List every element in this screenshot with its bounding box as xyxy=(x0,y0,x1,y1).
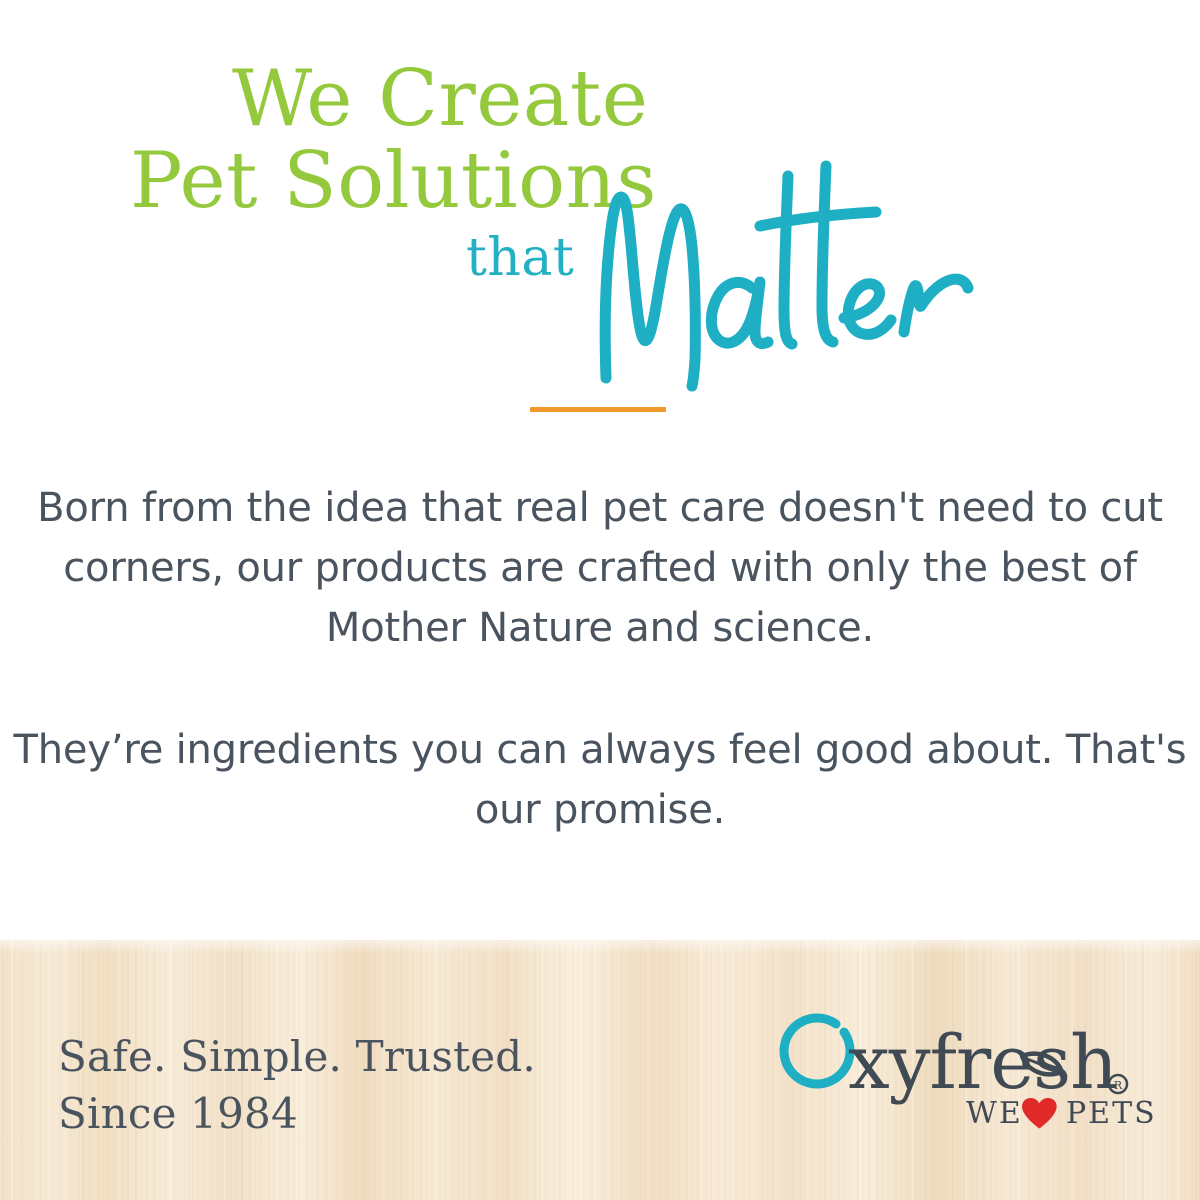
oxyfresh-logo[interactable]: Oxyfresh xyfresh R WE PETS xyxy=(770,1010,1160,1130)
body-paragraph-1: Born from the idea that real pet care do… xyxy=(0,478,1200,658)
logo-subline-pets: PETS xyxy=(1066,1096,1157,1131)
headline-word-that: that xyxy=(466,228,574,288)
tagline-line-1: Safe. Simple. Trusted. xyxy=(58,1028,536,1085)
logo-subline-we: WE xyxy=(966,1096,1023,1131)
footer-tagline: Safe. Simple. Trusted. Since 1984 xyxy=(58,1028,536,1142)
headline-script-matter: Matter xyxy=(592,160,1012,390)
body-copy: Born from the idea that real pet care do… xyxy=(0,478,1200,840)
oxyfresh-o-ring-icon xyxy=(784,1018,850,1084)
svg-text:R: R xyxy=(1114,1079,1123,1092)
tagline-line-2: Since 1984 xyxy=(58,1085,536,1142)
poster-canvas: We Create Pet Solutions that Matter xyxy=(0,0,1200,1200)
headline-block: We Create Pet Solutions that Matter xyxy=(0,0,1200,440)
headline-line-1: We Create xyxy=(232,58,648,140)
logo-wordmark: xyfresh xyxy=(848,1020,1117,1106)
orange-rule xyxy=(530,407,666,412)
body-paragraph-2: They’re ingredients you can always feel … xyxy=(0,720,1200,840)
headline-line-2: Pet Solutions xyxy=(130,140,657,222)
wood-top-shade xyxy=(0,940,1200,954)
